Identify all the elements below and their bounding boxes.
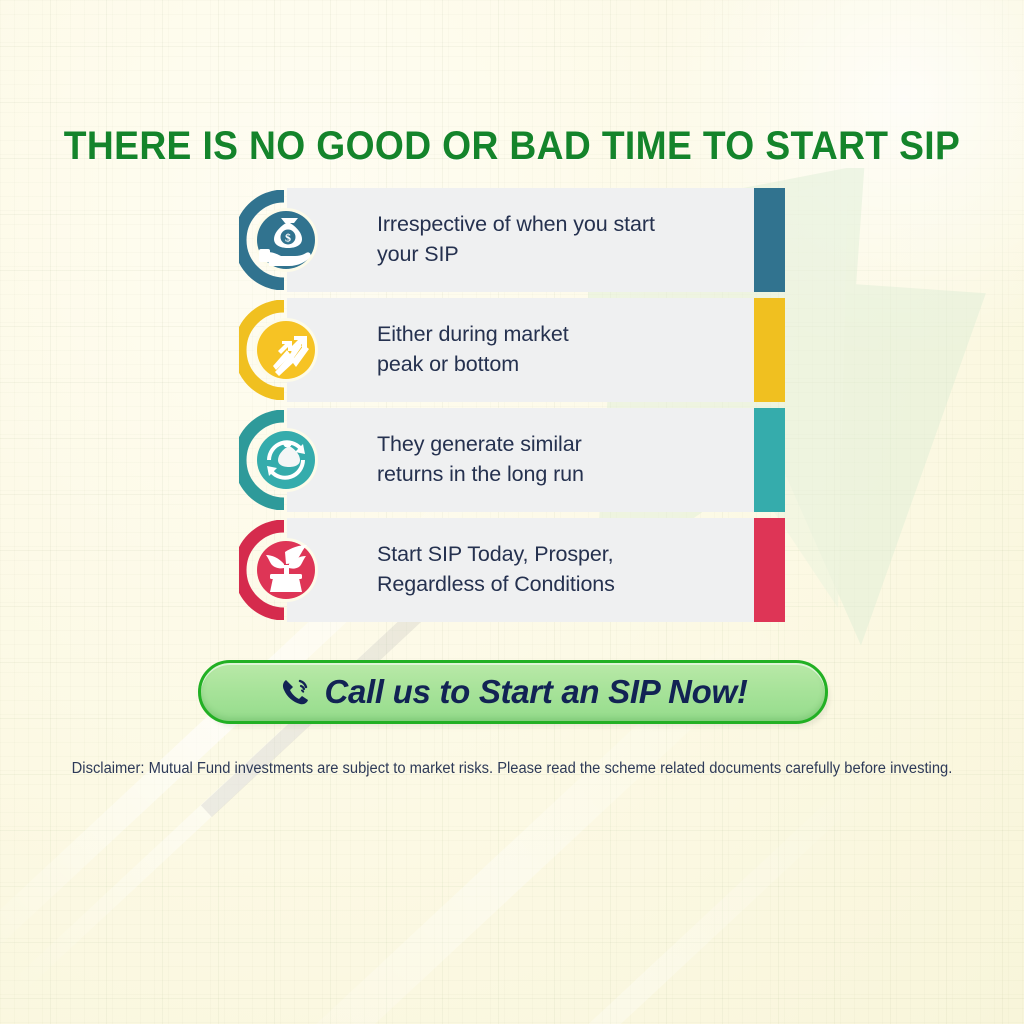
row-accent-bar [754,298,785,402]
money-bag-recycle-icon [239,410,329,510]
row-text-line1: Start SIP Today, Prosper, [377,540,737,570]
list-item: Either during market peak or bottom [239,298,785,402]
poster-canvas: THERE IS NO GOOD OR BAD TIME TO START SI… [0,0,1024,1024]
page-title: THERE IS NO GOOD OR BAD TIME TO START SI… [36,124,988,169]
list-item: Start SIP Today, Prosper, Regardless of … [239,518,785,622]
hand-holding-money-bag-icon: $ [239,190,329,290]
phone-call-icon [278,675,312,709]
cta-container: Call us to Start an SIP Now! [198,660,830,724]
row-text-line1: Irrespective of when you start [377,210,737,240]
row-text-line2: Regardless of Conditions [377,570,737,600]
row-text-line2: your SIP [377,240,737,270]
row-accent-bar [754,518,785,622]
call-us-button[interactable]: Call us to Start an SIP Now! [198,660,828,724]
cta-label: Call us to Start an SIP Now! [324,673,747,711]
benefit-list: Irrespective of when you start your SIP … [239,188,785,628]
row-accent-bar [754,408,785,512]
row-text-line1: They generate similar [377,430,737,460]
row-text-line2: peak or bottom [377,350,737,380]
row-text: They generate similar returns in the lon… [377,408,737,512]
row-text: Either during market peak or bottom [377,298,737,402]
row-accent-bar [754,188,785,292]
row-text: Irrespective of when you start your SIP [377,188,737,292]
growth-arrows-icon [239,300,329,400]
row-text: Start SIP Today, Prosper, Regardless of … [377,518,737,622]
svg-text:$: $ [285,231,291,245]
list-item: They generate similar returns in the lon… [239,408,785,512]
money-bag-growth-hands-icon [239,520,329,620]
disclaimer-text: Disclaimer: Mutual Fund investments are … [26,760,999,778]
row-text-line2: returns in the long run [377,460,737,490]
list-item: Irrespective of when you start your SIP … [239,188,785,292]
row-text-line1: Either during market [377,320,737,350]
